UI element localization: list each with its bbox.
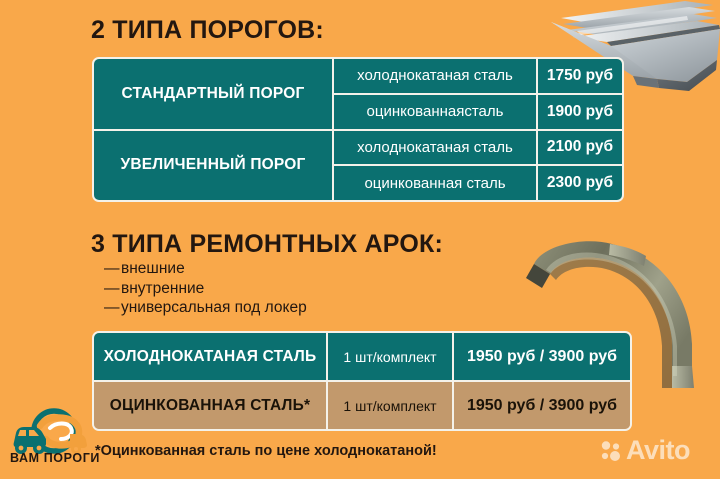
table-row: ОЦИНКОВАННАЯ СТАЛЬ* 1 шт/комплект 1950 р…: [94, 380, 630, 429]
list-item: —внешние: [104, 259, 307, 279]
price-label: 1950 руб / 3900 руб: [467, 397, 617, 415]
bullet-dash: —: [104, 259, 121, 279]
material-cell: холоднокатаная сталь: [334, 59, 538, 93]
list-item: —универсальная под локер: [104, 298, 307, 318]
price-label: 2300 руб: [547, 174, 613, 192]
brand-logo-text: ВАМ ПОРОГИ: [8, 451, 102, 465]
material-cell: ОЦИНКОВАННАЯ СТАЛЬ*: [94, 382, 328, 429]
material-label: холоднокатаная сталь: [357, 139, 513, 156]
avito-watermark: Avito: [600, 437, 690, 464]
quantity-label: 1 шт/комплект: [343, 398, 436, 414]
brand-logo: ВАМ ПОРОГИ: [6, 406, 102, 468]
price-label: 1950 руб / 3900 руб: [467, 348, 617, 366]
sill-type-cell: УВЕЛИЧЕННЫЙ ПОРОГ: [94, 131, 334, 201]
material-label: оцинкованная сталь: [364, 175, 505, 192]
material-label: оцинкованнаясталь: [367, 103, 504, 120]
price-label: 2100 руб: [547, 138, 613, 156]
section2-heading: 3 ТИПА РЕМОНТНЫХ АРОК:: [91, 230, 443, 259]
material-label: ХОЛОДНОКАТАНАЯ СТАЛЬ: [104, 348, 317, 366]
list-item-label: внутренние: [121, 280, 204, 297]
material-cell: холоднокатаная сталь: [334, 131, 538, 165]
material-cell: оцинкованнаясталь: [334, 95, 538, 129]
sill-variant-group: холоднокатаная сталь 1750 руб оцинкованн…: [334, 59, 622, 129]
arch-price-table: ХОЛОДНОКАТАНАЯ СТАЛЬ 1 шт/комплект 1950 …: [92, 331, 632, 431]
avito-watermark-text: Avito: [626, 437, 690, 464]
bullet-dash: —: [104, 279, 121, 299]
sill-variant-group: холоднокатаная сталь 2100 руб оцинкованн…: [334, 131, 622, 201]
bullet-dash: —: [104, 298, 121, 318]
quantity-label: 1 шт/комплект: [343, 349, 436, 365]
table-row: холоднокатаная сталь 2100 руб: [334, 131, 622, 165]
price-cell: 1950 руб / 3900 руб: [454, 333, 630, 380]
table-row: холоднокатаная сталь 1750 руб: [334, 59, 622, 93]
table-row: УВЕЛИЧЕННЫЙ ПОРОГ холоднокатаная сталь 2…: [94, 129, 622, 201]
list-item: —внутренние: [104, 279, 307, 299]
arch-type-list: —внешние —внутренние —универсальная под …: [104, 259, 307, 318]
table-row: оцинкованная сталь 2300 руб: [334, 164, 622, 200]
price-cell: 1750 руб: [538, 59, 622, 93]
table-row: ХОЛОДНОКАТАНАЯ СТАЛЬ 1 шт/комплект 1950 …: [94, 333, 630, 380]
section1-heading: 2 ТИПА ПОРОГОВ:: [91, 16, 324, 45]
price-cell: 1950 руб / 3900 руб: [454, 382, 630, 429]
sill-type-label: УВЕЛИЧЕННЫЙ ПОРОГ: [120, 156, 305, 174]
sill-type-label: СТАНДАРТНЫЙ ПОРОГ: [122, 85, 305, 103]
list-item-label: универсальная под локер: [121, 299, 307, 316]
price-cell: 1900 руб: [538, 95, 622, 129]
price-label: 1900 руб: [547, 103, 613, 121]
quantity-cell: 1 шт/комплект: [328, 382, 454, 429]
sill-type-cell: СТАНДАРТНЫЙ ПОРОГ: [94, 59, 334, 129]
material-cell: оцинкованная сталь: [334, 166, 538, 200]
sill-price-table: СТАНДАРТНЫЙ ПОРОГ холоднокатаная сталь 1…: [92, 57, 624, 202]
poster-canvas: 2 ТИПА ПОРОГОВ:: [0, 0, 720, 479]
price-cell: 2300 руб: [538, 166, 622, 200]
table-row: оцинкованнаясталь 1900 руб: [334, 93, 622, 129]
quantity-cell: 1 шт/комплект: [328, 333, 454, 380]
list-item-label: внешние: [121, 260, 185, 277]
material-label: ОЦИНКОВАННАЯ СТАЛЬ*: [110, 397, 310, 415]
avito-dots-icon: [600, 440, 622, 462]
table-row: СТАНДАРТНЫЙ ПОРОГ холоднокатаная сталь 1…: [94, 59, 622, 129]
material-cell: ХОЛОДНОКАТАНАЯ СТАЛЬ: [94, 333, 328, 380]
material-label: холоднокатаная сталь: [357, 67, 513, 84]
price-cell: 2100 руб: [538, 131, 622, 165]
footnote-text: *Оцинкованная сталь по цене холоднокатан…: [95, 443, 437, 459]
price-label: 1750 руб: [547, 67, 613, 85]
